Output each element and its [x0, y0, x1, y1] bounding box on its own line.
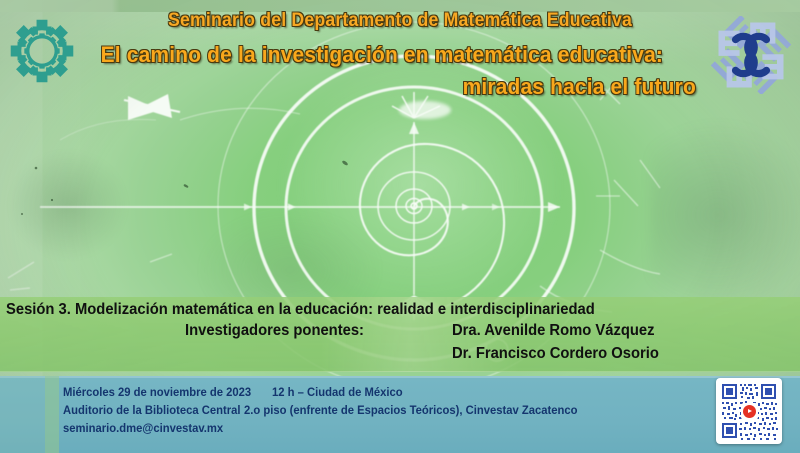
contact-email[interactable]: seminario.dme@cinvestav.mx	[63, 422, 223, 435]
speakers-label: Investigadores ponentes:	[185, 322, 364, 340]
cinvestav-logo	[8, 17, 76, 85]
top-strip	[0, 0, 800, 12]
info-band-green-stripe	[45, 376, 59, 453]
event-venue: Auditorio de la Biblioteca Central	[63, 404, 240, 417]
qr-code[interactable]	[716, 378, 782, 444]
speaker-name: Dra. Avenilde Romo Vázquez	[452, 322, 655, 340]
event-date: Miércoles 29 de noviembre de 2023	[63, 386, 251, 399]
youtube-play-icon	[741, 403, 758, 420]
info-band-topline	[0, 376, 800, 378]
session-title: Sesión 3. Modelización matemática en la …	[6, 301, 595, 319]
session-band: Sesión 3. Modelización matemática en la …	[0, 297, 800, 372]
info-band-left-tint	[0, 376, 45, 453]
matematica-educativa-logo	[710, 16, 792, 94]
seminar-poster: Seminario del Departamento de Matemática…	[0, 0, 800, 453]
speaker-name: Dr. Francisco Cordero Osorio	[452, 345, 659, 363]
event-venue-detail: 2.o piso (enfrente de Espacios Teóricos)…	[244, 404, 578, 417]
event-time: 12 h – Ciudad de México	[272, 386, 403, 399]
